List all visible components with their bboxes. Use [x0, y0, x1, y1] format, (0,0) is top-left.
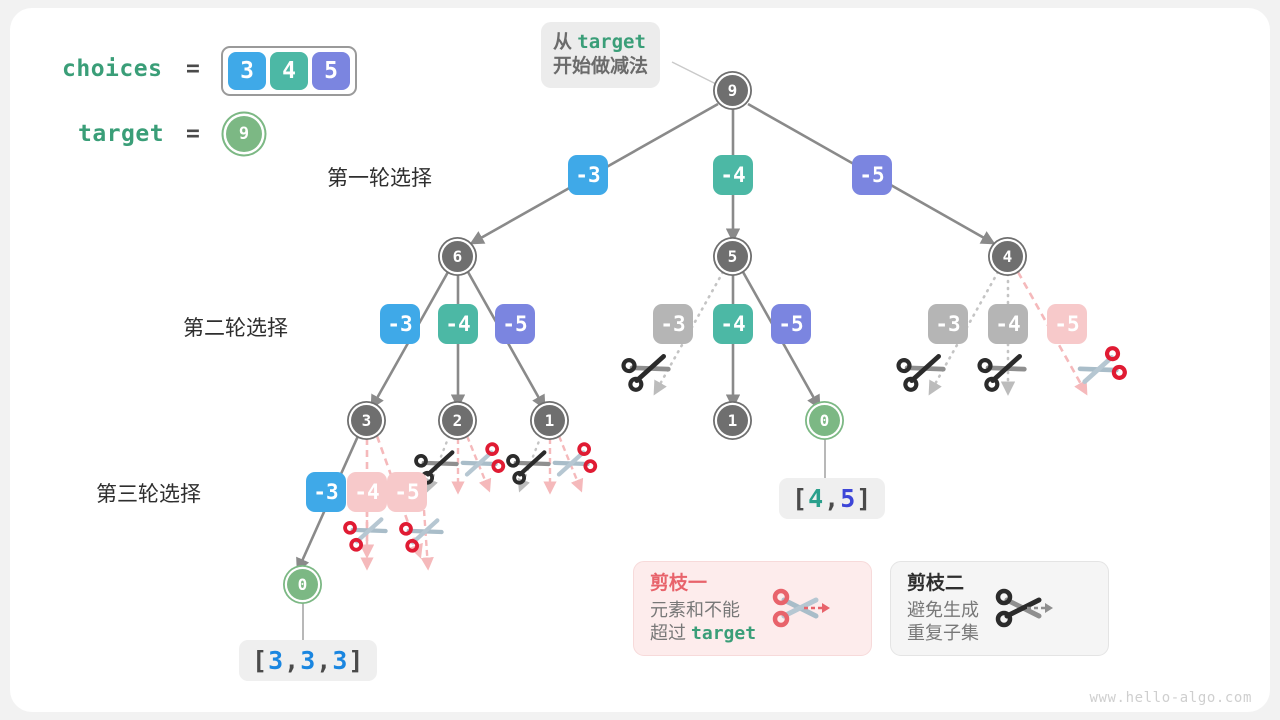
result-part: 3 — [332, 646, 348, 675]
choice-chip-1[interactable]: 4 — [270, 52, 308, 90]
legend-one-line2-prefix: 超过 — [650, 623, 691, 643]
result-part: ] — [348, 646, 364, 675]
edge-label-l1-2[interactable]: -5 — [852, 155, 892, 195]
tree-node-l3-0-solution[interactable]: 0 — [287, 569, 318, 600]
round-label-2: 第二轮选择 — [183, 312, 288, 342]
legend-two-line1: 避免生成 — [907, 599, 979, 622]
callout-line-1: 从 target — [553, 30, 648, 55]
tree-node-l2-2[interactable]: 1 — [534, 405, 565, 436]
edge-label-n4-0-pruned[interactable]: -3 — [928, 304, 968, 344]
scissors-red-icon — [770, 586, 834, 632]
legend-two-line2: 重复子集 — [907, 622, 979, 645]
edge-label-n3-2-pruned[interactable]: -5 — [387, 472, 427, 512]
legend-one-title: 剪枝一 — [650, 572, 756, 597]
edge-label-n5-1[interactable]: -4 — [713, 304, 753, 344]
choice-chip-2[interactable]: 5 — [312, 52, 350, 90]
edge-label-n6-1[interactable]: -4 — [438, 304, 478, 344]
round-label-3: 第三轮选择 — [96, 478, 201, 508]
scissors-black-icon — [993, 586, 1057, 632]
edge-label-n4-2-pruned[interactable]: -5 — [1047, 304, 1087, 344]
result-box-1: [4,5] — [779, 478, 885, 519]
tree-node-l2-0[interactable]: 3 — [351, 405, 382, 436]
tree-node-l1-1[interactable]: 5 — [717, 241, 748, 272]
edge-label-n6-2[interactable]: -5 — [495, 304, 535, 344]
edge-label-l1-1[interactable]: -4 — [713, 155, 753, 195]
diagram-canvas: choices = 3 4 5 target = 9 从 target 开始做减… — [0, 0, 1280, 720]
legend-one-line2: 超过 target — [650, 622, 756, 645]
tree-node-l2-3[interactable]: 1 — [717, 405, 748, 436]
legend-two-title: 剪枝二 — [907, 572, 979, 597]
edge-label-l1-0[interactable]: -3 — [568, 155, 608, 195]
target-equals-sign: = — [186, 121, 200, 147]
choice-chip-0[interactable]: 3 — [228, 52, 266, 90]
result-part: , — [824, 484, 840, 513]
callout-line1-prefix: 从 — [553, 32, 577, 53]
result-part: [ — [792, 484, 808, 513]
target-value-node: 9 — [226, 116, 262, 152]
result-part: 3 — [300, 646, 316, 675]
choices-label: choices — [62, 56, 162, 82]
result-part: 3 — [268, 646, 284, 675]
choices-equals-sign: = — [186, 56, 200, 82]
result-part: ] — [856, 484, 872, 513]
result-part: , — [284, 646, 300, 675]
legend-one-text: 剪枝一 元素和不能 超过 target — [650, 572, 756, 645]
legend-pruning-two: 剪枝二 避免生成 重复子集 — [890, 561, 1109, 656]
edge-label-n6-0[interactable]: -3 — [380, 304, 420, 344]
target-label: target — [78, 121, 164, 147]
tree-node-l1-0[interactable]: 6 — [442, 241, 473, 272]
callout-start-subtraction: 从 target 开始做减法 — [541, 22, 660, 88]
tree-node-l1-2[interactable]: 4 — [992, 241, 1023, 272]
edge-label-n3-0[interactable]: -3 — [306, 472, 346, 512]
result-part: 5 — [840, 484, 856, 513]
result-part: 4 — [808, 484, 824, 513]
legend-one-line2-keyword: target — [691, 623, 756, 644]
legend-two-text: 剪枝二 避免生成 重复子集 — [907, 572, 979, 645]
tree-node-l2-1[interactable]: 2 — [442, 405, 473, 436]
edge-label-n5-2[interactable]: -5 — [771, 304, 811, 344]
round-label-1: 第一轮选择 — [327, 162, 432, 192]
callout-line-2: 开始做减法 — [553, 55, 648, 79]
choices-array[interactable]: 3 4 5 — [221, 46, 357, 96]
edge-label-n5-0-pruned[interactable]: -3 — [653, 304, 693, 344]
legend-pruning-one: 剪枝一 元素和不能 超过 target — [633, 561, 872, 656]
watermark: www.hello-algo.com — [1089, 690, 1252, 706]
edge-label-n3-1-pruned[interactable]: -4 — [347, 472, 387, 512]
result-part: , — [316, 646, 332, 675]
legend-one-line1: 元素和不能 — [650, 599, 756, 622]
tree-node-root[interactable]: 9 — [717, 75, 748, 106]
tree-node-l2-4-solution[interactable]: 0 — [809, 405, 840, 436]
result-part: [ — [252, 646, 268, 675]
edge-label-n4-1-pruned[interactable]: -4 — [988, 304, 1028, 344]
callout-line1-keyword: target — [577, 31, 646, 53]
result-box-0: [3,3,3] — [239, 640, 377, 681]
